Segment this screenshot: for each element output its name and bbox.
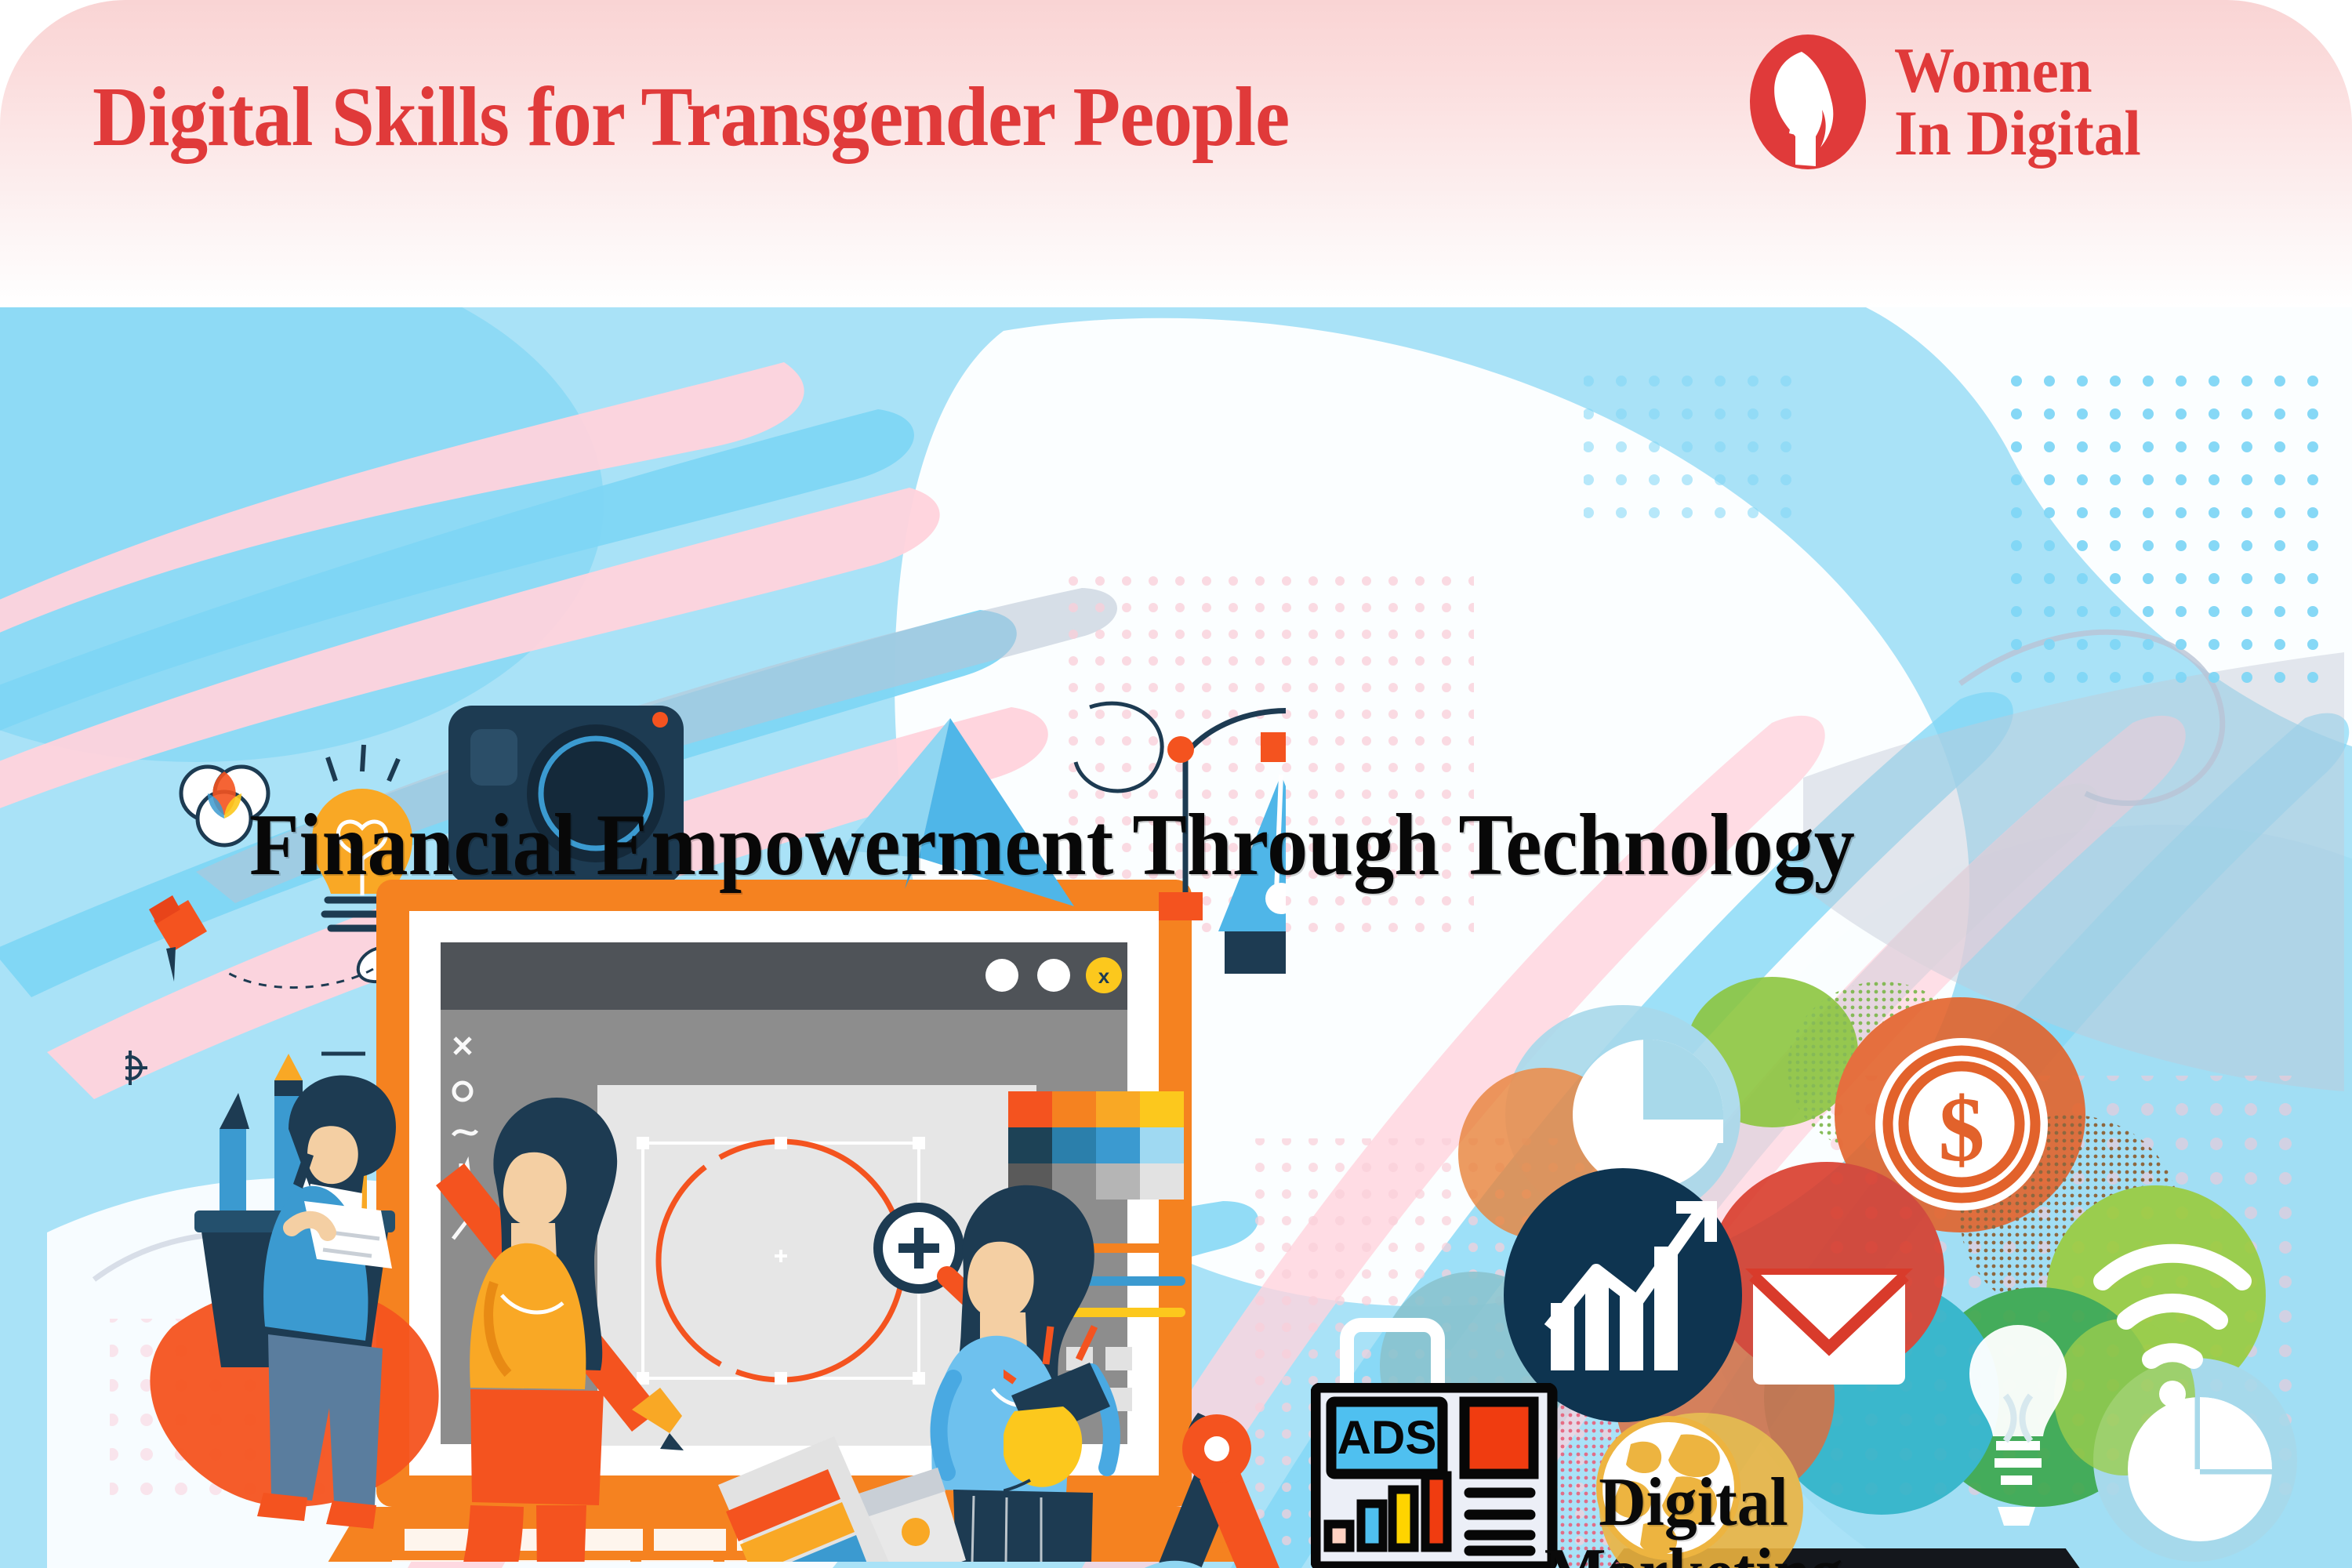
brand-logo: Women In Digital <box>1748 33 2157 171</box>
digital-marketing-label-line2: Marketing <box>1544 1538 1843 1568</box>
hero-title: Financial Empowerment Through Technology <box>249 801 1855 889</box>
pie-chart-icon <box>1573 1040 1723 1190</box>
svg-text:$: $ <box>1939 1078 1985 1181</box>
poster-header: Digital Skills for Transgender People Wo… <box>0 0 2352 307</box>
page-title: Digital Skills for Transgender People <box>93 75 1289 160</box>
color-swatch-panel <box>1008 1091 1184 1200</box>
artwork-canvas: Financial Empowerment Through Technology <box>0 307 2352 1568</box>
brand-line-1: Women <box>1894 34 2092 106</box>
ads-monitor-icon: ADS <box>1311 1383 1577 1568</box>
pushpin-icon <box>149 895 207 982</box>
ads-screen-text: ADS <box>1338 1411 1437 1464</box>
poster-root: Digital Skills for Transgender People Wo… <box>0 0 2352 1568</box>
woman-face-oval-logo-icon <box>1748 33 1867 171</box>
plug-icon <box>1004 1327 1110 1494</box>
compass-icon <box>1101 1413 1333 1568</box>
svg-text:x: x <box>1098 964 1110 988</box>
window-minimize-button <box>985 959 1018 992</box>
crosshair-icon <box>125 1051 147 1085</box>
email-envelope-icon <box>1753 1272 1905 1385</box>
digital-marketing-label-line1: Digital <box>1544 1468 1843 1538</box>
dollar-coin-icon: $ <box>1875 1038 2048 1210</box>
brand-logo-text: Women In Digital <box>1894 39 2141 165</box>
squiggle-decor <box>1076 703 1162 791</box>
digital-marketing-label: Digital Marketing <box>1544 1468 1843 1568</box>
brand-line-2: In Digital <box>1894 102 2141 165</box>
pie-chart-icon-2 <box>2128 1397 2272 1541</box>
window-maximize-button <box>1037 959 1070 992</box>
